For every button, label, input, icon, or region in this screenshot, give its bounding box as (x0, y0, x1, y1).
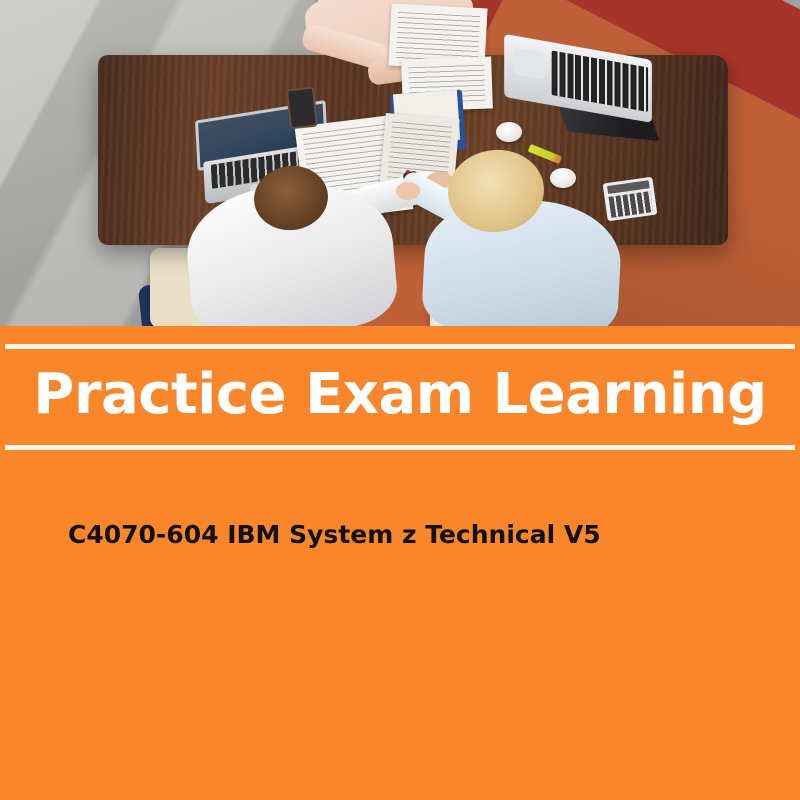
poster-page: Practice Exam Learning C4070-604 IBM Sys… (0, 0, 800, 800)
paper-lines (396, 12, 480, 62)
calculator-buttons (609, 191, 654, 218)
poster-body: Practice Exam Learning C4070-604 IBM Sys… (0, 326, 800, 800)
page-title: Practice Exam Learning (0, 354, 800, 436)
calculator (603, 177, 658, 222)
exam-title: C4070-604 IBM System z Technical V5 (68, 514, 628, 556)
smartphone (286, 87, 318, 130)
divider-rule-bottom (5, 445, 795, 450)
laptop-trackpad (513, 48, 545, 80)
hero-photo (0, 0, 800, 326)
coffee-cup (496, 122, 522, 142)
divider-rule-top (5, 344, 795, 349)
coffee-cup (550, 168, 576, 188)
hand (396, 182, 420, 200)
